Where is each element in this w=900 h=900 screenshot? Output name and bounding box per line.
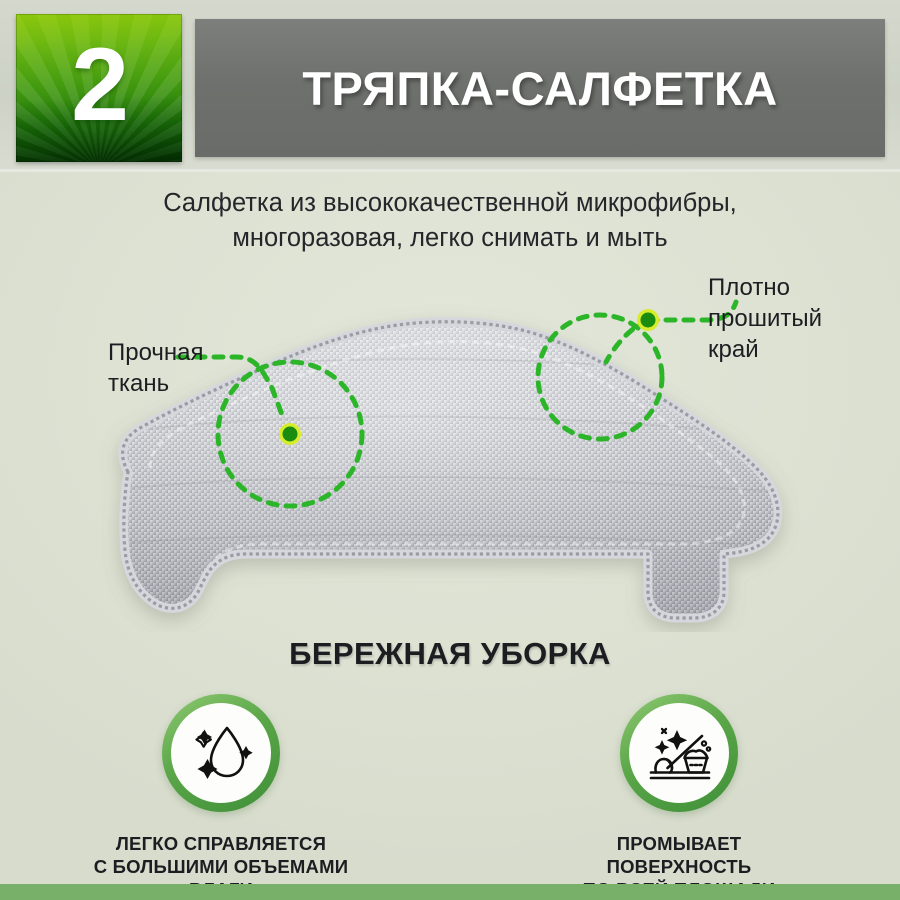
water-drop-sparkle-icon [185, 717, 257, 789]
feature-full-surface-wash: ПРОМЫВАЕТ ПОВЕРХНОСТЬ ПО ВСЕЙ ПЛОЩАДИ [549, 694, 809, 900]
callout-durable-fabric-line-1: Прочная [108, 337, 204, 368]
feature-water-absorption: ЛЕГКО СПРАВЛЯЕТСЯ С БОЛЬШИМИ ОБЪЕМАМИ ВЛ… [91, 694, 351, 900]
subtitle: Салфетка из высококачественной микрофибр… [0, 186, 900, 256]
callout-stitched-edge-line-1: Плотно [708, 272, 822, 303]
infographic-page: 2 ТРЯПКА-САЛФЕТКА Салфетка из высококаче… [0, 0, 900, 900]
feature-caption-2-line-1: ПРОМЫВАЕТ ПОВЕРХНОСТЬ [607, 833, 752, 877]
callout-stitched-edge-line-3: край [708, 334, 822, 365]
title-bar: ТРЯПКА-САЛФЕТКА [195, 19, 885, 157]
callout-stitched-edge-line-2: прошитый [708, 303, 822, 334]
features-row: ЛЕГКО СПРАВЛЯЕТСЯ С БОЛЬШИМИ ОБЪЕМАМИ ВЛ… [0, 694, 900, 900]
subtitle-line-2: многоразовая, легко снимать и мыть [60, 221, 840, 256]
page-title: ТРЯПКА-САЛФЕТКА [302, 61, 777, 116]
badge-number-label: 2 [16, 14, 182, 162]
callout-durable-fabric-line-2: ткань [108, 368, 204, 399]
feature-icon-disc-2 [629, 703, 729, 803]
mop-bucket-sparkle-icon [642, 716, 716, 790]
subtitle-line-1: Салфетка из высококачественной микрофибр… [163, 189, 737, 217]
feature-caption-1-line-1: ЛЕГКО СПРАВЛЯЕТСЯ [116, 833, 326, 854]
feature-icon-ring-1 [162, 694, 280, 812]
callout-stitched-edge: Плотно прошитый край [708, 272, 822, 365]
feature-icon-disc-1 [171, 703, 271, 803]
callout-durable-fabric: Прочная ткань [108, 337, 204, 399]
section-heading: БЕРЕЖНАЯ УБОРКА [0, 636, 900, 672]
feature-icon-ring-2 [620, 694, 738, 812]
step-number-badge: 2 [16, 14, 182, 162]
bottom-accent-bar [0, 884, 900, 900]
